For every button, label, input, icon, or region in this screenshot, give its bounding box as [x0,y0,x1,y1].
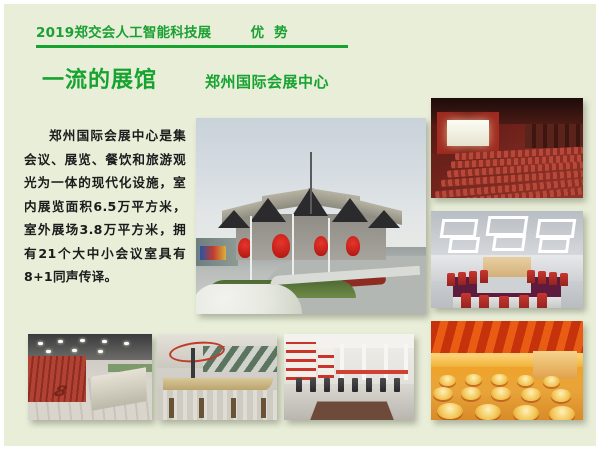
chair [469,271,477,284]
barrier-post [169,398,174,418]
chair [549,272,557,285]
chair [479,295,489,308]
banquet-stage-screen [533,351,577,379]
banquet-table [461,387,481,400]
atrium-floor [157,390,277,420]
chair [537,293,547,308]
banquet-table [437,403,463,419]
header-title: 2019郑交会人工智能科技展 优 势 [36,24,356,42]
light-pole-1 [250,216,252,280]
ceiling-lamp [486,216,529,236]
photo-atrium [157,334,277,420]
turnstile-gate [352,378,358,392]
banquet-table [517,375,534,386]
turnstile-gate [380,378,386,392]
banquet-table [549,406,575,420]
photo-auditorium [431,98,583,198]
banquet-table [491,387,511,400]
banquet-table [433,387,453,400]
photo-banquet-inner [431,321,583,420]
banquet-table [543,376,560,387]
subtitle-row: 一流的展馆 郑州国际会展中心 [42,68,442,95]
projection-screen [447,120,489,146]
body-paragraph: 郑州国际会展中心是集会议、展览、餐饮和旅游观光为一体的现代化设施，室内展览面积6… [24,124,186,289]
red-window-frame [286,342,316,380]
photo-exhibition-hall: 8 [28,334,152,420]
ceiling-light [124,342,129,345]
banquet-table [439,375,456,386]
roof-peak-4 [332,198,368,222]
header-underline-rule [36,45,348,48]
photo-atrium-inner [157,334,277,420]
turnstile-gate [394,378,400,392]
turnstile-gate [310,378,316,392]
chair [447,273,455,286]
red-window-frame [318,348,334,378]
barrier-post [261,398,266,418]
light-pole-2 [292,214,294,282]
chair [480,270,488,283]
ceiling-lamp [448,237,480,253]
ceiling-light [98,350,103,353]
banquet-table [491,374,508,385]
side-banner [200,246,226,260]
photo-entrance-hall [284,334,414,420]
roof-peak-1 [218,210,250,228]
photo-banquet-hall [431,321,583,420]
turnstile-gate [338,378,344,392]
photo-entrance-inner [284,334,414,420]
ceiling-lamp [440,219,479,238]
chinese-knot-2 [272,234,290,258]
column [384,344,388,380]
ceiling-lamp [536,219,577,238]
chair [461,293,471,308]
subtitle-venue-name: 郑州国际会展中心 [205,69,329,95]
photo-main-inner [196,118,426,314]
ceiling-light [72,349,77,352]
ceiling-lamp [492,235,526,251]
chair [538,271,546,284]
chinese-knot-4 [346,236,360,256]
banquet-table [521,388,541,401]
ceiling-drapes [431,321,583,355]
photo-auditorium-inner [431,98,583,198]
warm-wall-panel [483,257,531,277]
photo-convention-center-exterior [196,118,426,314]
slide-header: 2019郑交会人工智能科技展 优 势 [36,24,356,48]
banquet-table [551,389,571,402]
ceiling-light [58,340,63,343]
column [404,344,408,380]
barrier-post [231,398,236,418]
photo-exhibition-inner: 8 [28,334,152,420]
subtitle-main: 一流的展馆 [42,68,157,94]
ceiling-light [102,340,107,343]
ceiling-light [46,350,51,353]
roof-peak-2 [250,198,286,222]
banquet-table [513,405,539,420]
roof-peak-5 [368,210,400,228]
banquet-table [475,404,501,420]
barrier-post [199,398,204,418]
white-flower-bed [196,284,302,314]
light-pole-3 [328,218,330,280]
turnstile-gate [324,378,330,392]
chair [519,295,529,308]
column [340,344,344,380]
chair [458,272,466,285]
turnstile-gate [366,378,372,392]
photo-conference-room-inner [431,211,583,308]
red-wall-band [336,370,408,374]
slide-canvas: 2019郑交会人工智能科技展 优 势 一流的展馆 郑州国际会展中心 郑州国际会展… [0,0,600,450]
chair [527,270,535,283]
ceiling-light [38,342,43,345]
entrance-rug [310,402,394,420]
chinese-knot-3 [314,236,328,256]
turnstile-gate [296,378,302,392]
flag-mast [310,152,312,214]
ceiling-light [80,339,85,342]
ceiling-lamp [538,237,570,253]
chair [560,273,568,286]
chair [499,296,509,308]
column [362,344,366,380]
photo-conference-room [431,211,583,308]
banquet-table [465,374,482,385]
